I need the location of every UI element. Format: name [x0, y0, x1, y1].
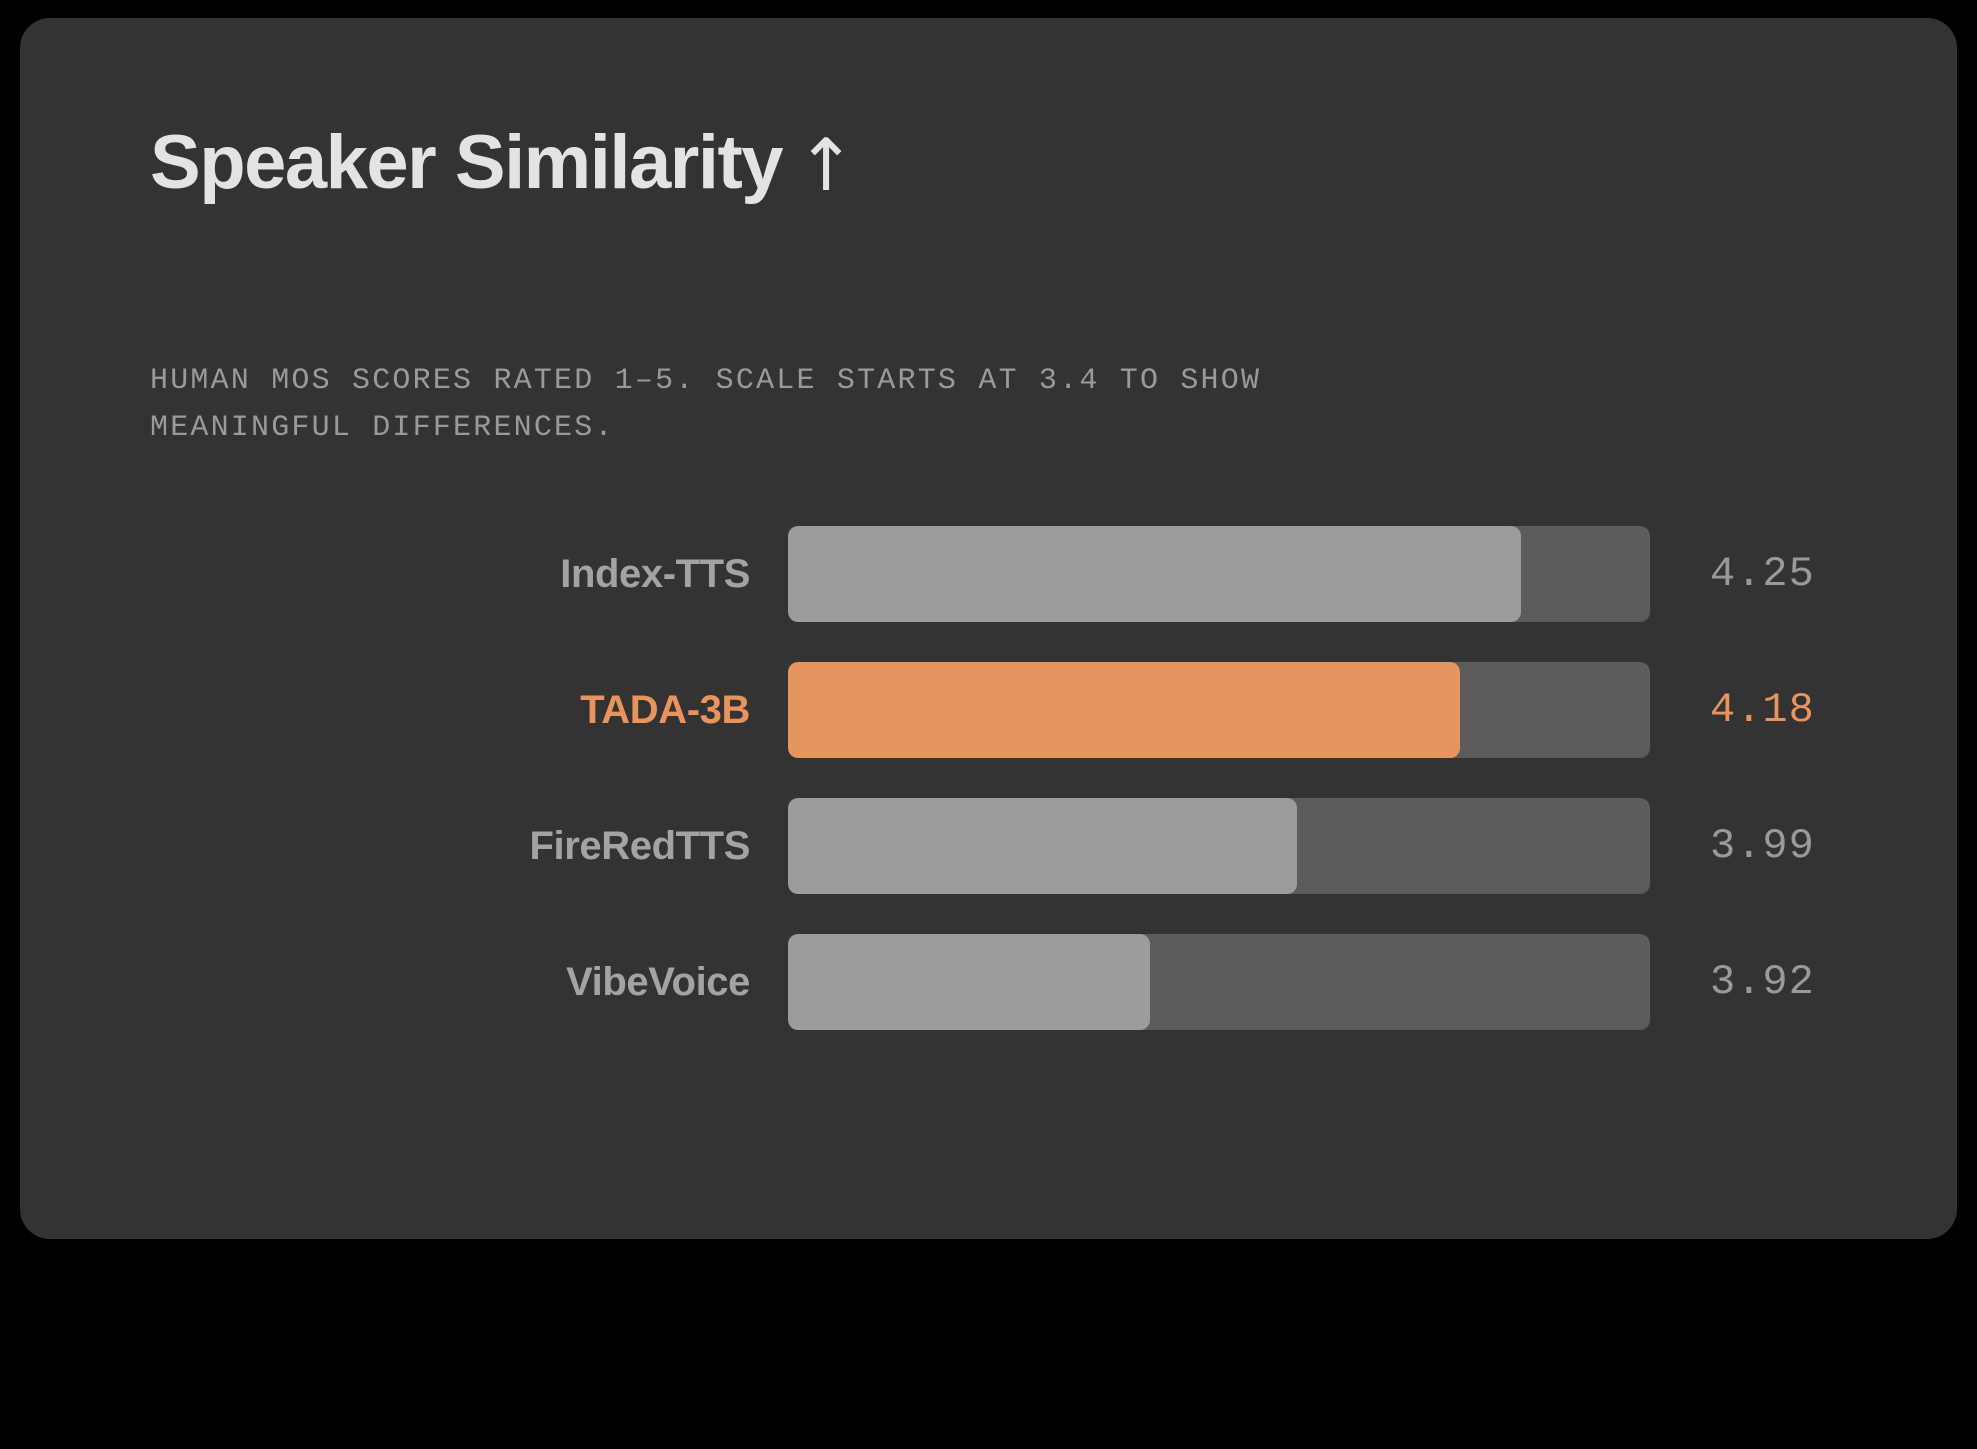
screenshot-root: Speaker Similarity↑ HUMAN MOS SCORES RAT… [0, 0, 1977, 1449]
bar-row: FireRedTTS3.99 [20, 790, 1957, 902]
bar-label: VibeVoice [280, 926, 750, 1038]
bar-row: Index-TTS4.25 [20, 518, 1957, 630]
page-title-text: Speaker Similarity [150, 120, 782, 205]
bar-track [788, 934, 1650, 1030]
bar-value: 3.92 [1710, 926, 1815, 1038]
bar-label: Index-TTS [280, 518, 750, 630]
bar-row: TADA-3B4.18 [20, 654, 1957, 766]
bar-row: VibeVoice3.92 [20, 926, 1957, 1038]
bar-track [788, 526, 1650, 622]
bar-value: 3.99 [1710, 790, 1815, 902]
arrow-up-icon: ↑ [796, 128, 855, 204]
bar-fill [788, 662, 1460, 758]
bar-fill [788, 526, 1521, 622]
bar-value: 4.25 [1710, 518, 1815, 630]
bar-label: FireRedTTS [280, 790, 750, 902]
chart-subtitle: HUMAN MOS SCORES RATED 1–5. SCALE STARTS… [150, 358, 1480, 451]
page-title: Speaker Similarity↑ [150, 123, 855, 204]
chart-card: Speaker Similarity↑ HUMAN MOS SCORES RAT… [20, 18, 1957, 1239]
bar-label: TADA-3B [280, 654, 750, 766]
bar-fill [788, 798, 1297, 894]
bar-fill [788, 934, 1150, 1030]
bar-value: 4.18 [1710, 654, 1815, 766]
bar-track [788, 798, 1650, 894]
bar-chart: Index-TTS4.25TADA-3B4.18FireRedTTS3.99Vi… [20, 518, 1957, 1062]
bar-track [788, 662, 1650, 758]
